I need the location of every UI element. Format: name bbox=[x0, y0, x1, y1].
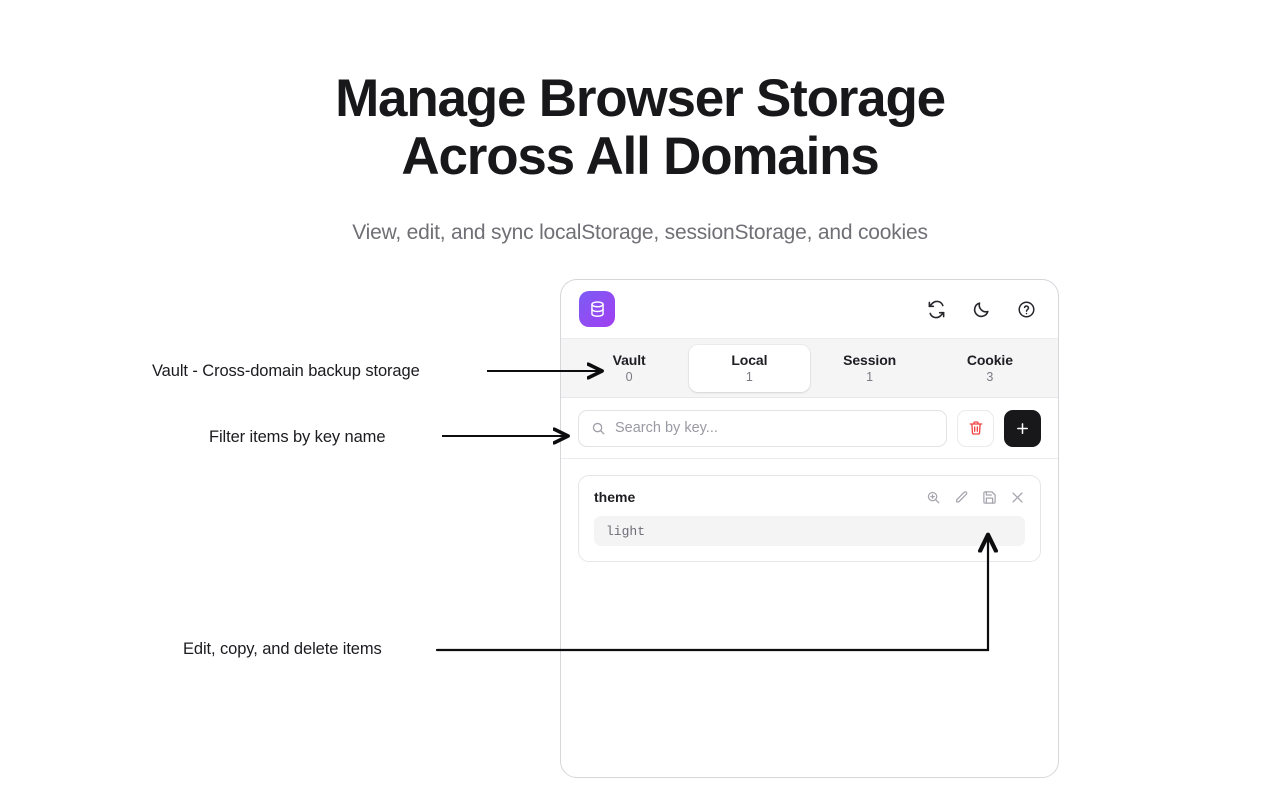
tab-local-count: 1 bbox=[746, 370, 753, 384]
annotation-filter: Filter items by key name bbox=[209, 428, 385, 447]
search-input[interactable] bbox=[615, 420, 934, 436]
app-header bbox=[561, 280, 1058, 339]
list-item: theme bbox=[578, 475, 1041, 562]
page-root: Manage Browser Storage Across All Domain… bbox=[0, 0, 1280, 800]
app-logo bbox=[579, 291, 615, 327]
save-icon[interactable] bbox=[982, 490, 997, 505]
item-header: theme bbox=[594, 489, 1025, 505]
refresh-icon[interactable] bbox=[927, 300, 946, 319]
moon-icon[interactable] bbox=[972, 300, 991, 319]
tab-local[interactable]: Local 1 bbox=[689, 345, 809, 392]
page-title: Manage Browser Storage Across All Domain… bbox=[0, 70, 1280, 186]
tab-vault-label: Vault bbox=[613, 352, 646, 368]
trash-icon bbox=[968, 420, 984, 436]
storage-tabs: Vault 0 Local 1 Session 1 Cookie 3 bbox=[561, 339, 1058, 398]
tab-session[interactable]: Session 1 bbox=[810, 345, 930, 392]
search-toolbar bbox=[561, 398, 1058, 459]
add-item-button[interactable] bbox=[1004, 410, 1041, 447]
header-actions bbox=[927, 300, 1036, 319]
item-value[interactable]: light bbox=[594, 516, 1025, 546]
tab-vault[interactable]: Vault 0 bbox=[569, 345, 689, 392]
search-icon bbox=[591, 421, 606, 436]
annotation-vault: Vault - Cross-domain backup storage bbox=[152, 362, 420, 381]
item-actions bbox=[926, 490, 1025, 505]
tab-local-label: Local bbox=[731, 352, 767, 368]
database-icon bbox=[588, 300, 607, 319]
tab-cookie-label: Cookie bbox=[967, 352, 1013, 368]
delete-all-button[interactable] bbox=[957, 410, 994, 447]
tab-cookie[interactable]: Cookie 3 bbox=[930, 345, 1050, 392]
search-field[interactable] bbox=[578, 410, 947, 447]
page-subtitle: View, edit, and sync localStorage, sessi… bbox=[0, 218, 1280, 248]
tab-session-count: 1 bbox=[866, 370, 873, 384]
tab-cookie-count: 3 bbox=[986, 370, 993, 384]
pencil-icon[interactable] bbox=[954, 490, 969, 505]
zoom-in-icon[interactable] bbox=[926, 490, 941, 505]
close-x-icon[interactable] bbox=[1010, 490, 1025, 505]
plus-icon bbox=[1015, 421, 1030, 436]
extension-window: Vault 0 Local 1 Session 1 Cookie 3 bbox=[560, 279, 1059, 778]
storage-item-list: theme bbox=[561, 459, 1058, 562]
tab-vault-count: 0 bbox=[626, 370, 633, 384]
help-circle-icon[interactable] bbox=[1017, 300, 1036, 319]
tab-session-label: Session bbox=[843, 352, 896, 368]
annotation-actions: Edit, copy, and delete items bbox=[183, 640, 382, 659]
item-key: theme bbox=[594, 489, 635, 505]
